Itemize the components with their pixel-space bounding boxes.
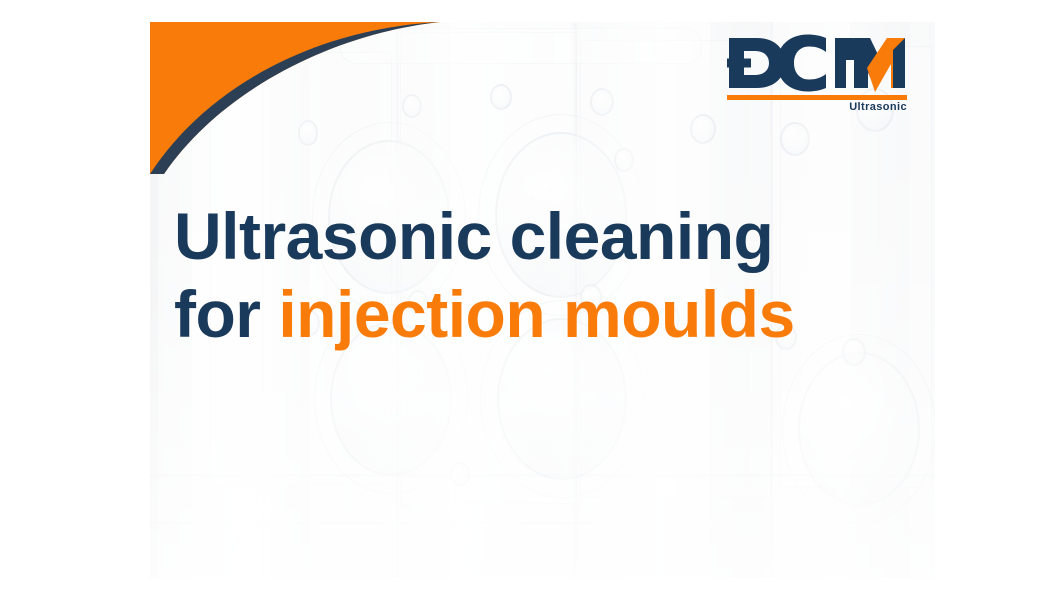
- slide-title: Ultrasonic cleaning for injection moulds: [174, 198, 914, 354]
- screenshot-canvas: Ultrasonic Ultrasonic cleaning for injec…: [0, 0, 1060, 599]
- presentation-slide: Ultrasonic Ultrasonic cleaning for injec…: [150, 22, 935, 578]
- orange-corner-icon: [150, 22, 440, 174]
- dcm-wordmark-icon: [727, 34, 907, 92]
- title-line-1: Ultrasonic cleaning: [174, 198, 914, 276]
- dcm-logo: Ultrasonic: [727, 34, 907, 113]
- title-line-2: for injection moulds: [174, 276, 914, 354]
- logo-underline-rule: [727, 95, 907, 100]
- title-line-2-prefix: for: [174, 277, 278, 351]
- title-line-2-accent: injection moulds: [278, 277, 794, 351]
- logo-tagline: Ultrasonic: [727, 102, 907, 113]
- orange-corner-decoration: [150, 22, 440, 172]
